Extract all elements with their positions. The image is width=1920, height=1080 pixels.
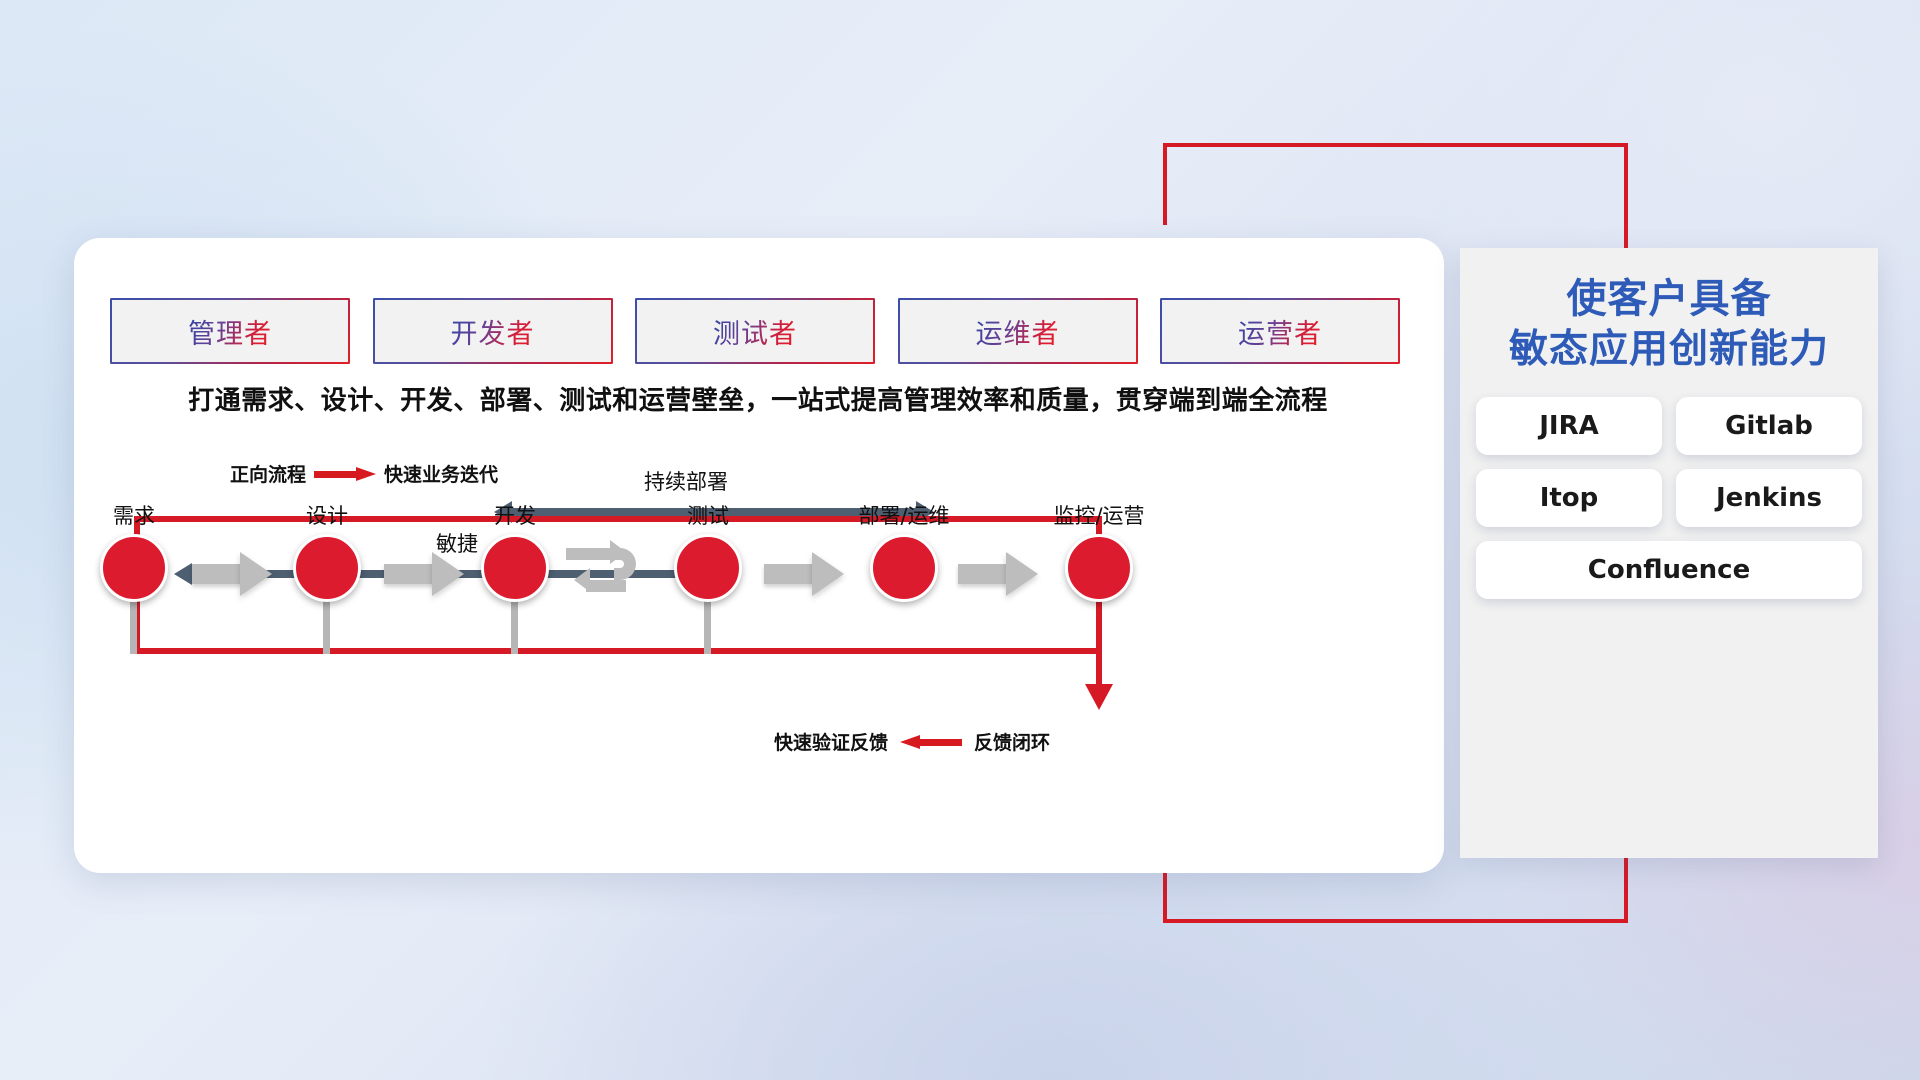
- role-label: 运维者: [976, 312, 1060, 351]
- tool-chip-grid: JIRA Gitlab Itop Jenkins Confluence: [1476, 397, 1862, 599]
- role-label: 开发者: [451, 312, 535, 351]
- tool-chip-jira[interactable]: JIRA: [1476, 397, 1662, 455]
- arrow-left-red-icon: [900, 735, 962, 749]
- outer-connector-bottom: [1163, 919, 1628, 923]
- legend-forward-flow: 正向流程 快速业务迭代: [230, 460, 498, 487]
- legend-feedback-source: 反馈闭环: [974, 728, 1050, 755]
- legend-forward-source: 正向流程: [230, 460, 306, 487]
- role-box-ops[interactable]: 运维者: [898, 298, 1138, 364]
- flow-arrow-4-icon: [958, 552, 1038, 596]
- stage-label: 设计: [257, 500, 397, 530]
- role-label: 运营者: [1238, 312, 1322, 351]
- tool-chip-jenkins[interactable]: Jenkins: [1676, 469, 1862, 527]
- tool-chip-itop[interactable]: Itop: [1476, 469, 1662, 527]
- span-label-continuous-deployment: 持续部署: [644, 466, 728, 496]
- role-box-manager[interactable]: 管理者: [110, 298, 350, 364]
- stem-test: [704, 598, 711, 654]
- role-box-row: 管理者 开发者 测试者 运维者 运营者: [110, 298, 1400, 364]
- outer-connector-left: [1163, 143, 1167, 225]
- tool-chip-confluence[interactable]: Confluence: [1476, 541, 1862, 599]
- arrow-right-red-icon: [314, 467, 376, 481]
- main-diagram-card: 管理者 开发者 测试者 运维者 运营者 打通需求、设计、开发、部署、测试和运营壁…: [74, 238, 1444, 873]
- feedback-loop-arrow-up-icon: [123, 568, 151, 594]
- panel-title: 使客户具备 敏态应用创新能力: [1460, 248, 1878, 375]
- role-box-tester[interactable]: 测试者: [635, 298, 875, 364]
- slide-canvas: 管理者 开发者 测试者 运维者 运营者 打通需求、设计、开发、部署、测试和运营壁…: [0, 0, 1920, 1080]
- role-label: 测试者: [713, 312, 797, 351]
- feedback-loop-arrow-down-icon: [1085, 684, 1113, 710]
- role-box-operations[interactable]: 运营者: [1160, 298, 1400, 364]
- feedback-loop-right: [1096, 516, 1102, 686]
- panel-title-line2: 敏态应用创新能力: [1460, 325, 1878, 375]
- legend-forward-target: 快速业务迭代: [384, 460, 498, 487]
- toolchain-panel: 使客户具备 敏态应用创新能力 JIRA Gitlab Itop Jenkins …: [1460, 248, 1878, 858]
- outer-connector-top: [1163, 143, 1628, 147]
- feedback-loop-top: [134, 516, 1102, 522]
- span-arrow-agile: [174, 563, 734, 585]
- feedback-loop-bottom: [134, 648, 1102, 654]
- role-box-developer[interactable]: 开发者: [373, 298, 613, 364]
- panel-title-line1: 使客户具备: [1460, 274, 1878, 325]
- headline-text: 打通需求、设计、开发、部署、测试和运营壁垒，一站式提高管理效率和质量，贯穿端到端…: [108, 380, 1408, 417]
- role-label: 管理者: [188, 312, 272, 351]
- stem-design: [323, 598, 330, 654]
- legend-feedback-target: 快速验证反馈: [774, 728, 888, 755]
- legend-feedback-loop: 快速验证反馈 反馈闭环: [774, 728, 1050, 755]
- stage-dot-icon: [870, 534, 938, 602]
- span-label-agile: 敏捷: [436, 528, 478, 558]
- tool-chip-gitlab[interactable]: Gitlab: [1676, 397, 1862, 455]
- stem-develop: [511, 598, 518, 654]
- flow-arrow-3-icon: [764, 552, 844, 596]
